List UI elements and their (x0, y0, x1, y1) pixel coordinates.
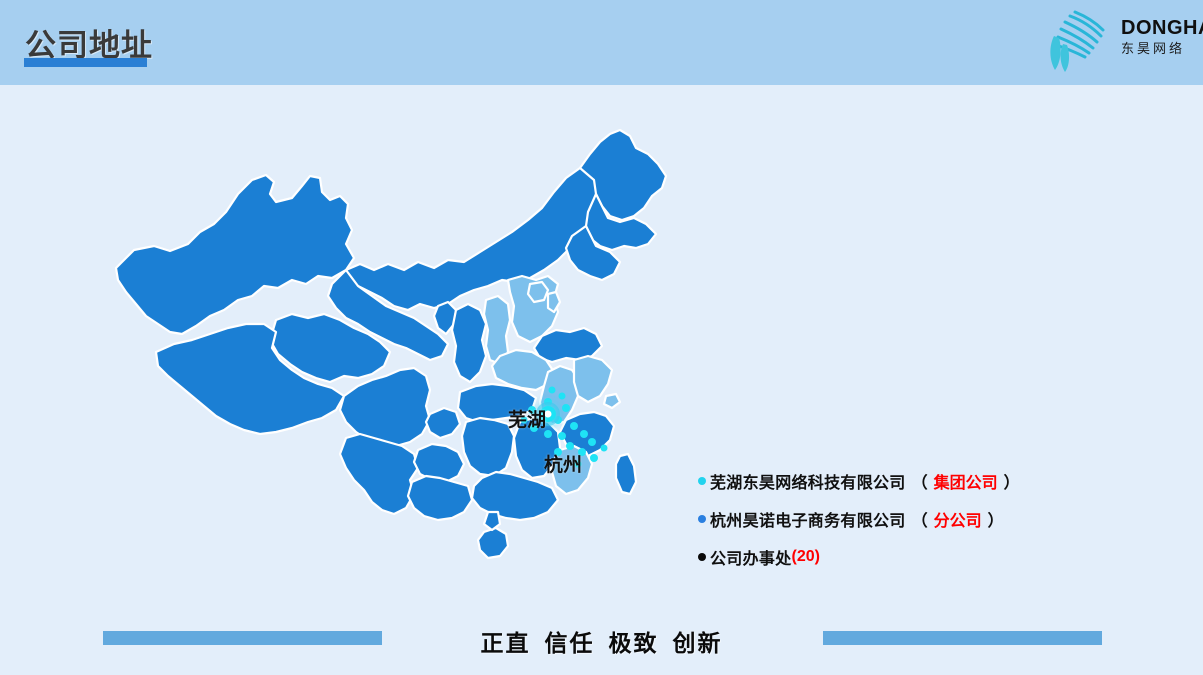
province-chongqing (426, 408, 460, 438)
province-hainan (478, 528, 508, 558)
legend-item-branch-company: 杭州昊诺电子商务有限公司 （分公司） (698, 500, 1098, 538)
footer-slogan: 正直信任极致创新 (0, 624, 1203, 658)
province-beijing (528, 282, 548, 302)
map-label-hangzhou: 杭州 (544, 450, 582, 477)
legend-bullet-blue-icon (698, 515, 706, 523)
legend-bullet-black-icon (698, 553, 706, 561)
slogan-word-4: 创新 (673, 630, 723, 656)
legend-paren-open-0: （ (912, 469, 928, 493)
province-taiwan (616, 454, 636, 494)
title-underline (24, 58, 147, 67)
province-xinjiang (116, 175, 354, 334)
wing-feather-icon (1045, 6, 1117, 74)
province-inner-mongolia (346, 160, 610, 310)
province-yunnan (340, 434, 418, 514)
slide: 公司地址 (0, 0, 1203, 675)
company-logo: DONGHAO 东昊网络 (1023, 4, 1193, 76)
legend-badge-branch-company: 分公司 (934, 507, 982, 531)
province-guangxi (408, 476, 472, 520)
legend-label-group-company: 芜湖东昊网络科技有限公司 (710, 469, 906, 493)
legend: 芜湖东昊网络科技有限公司 （集团公司） 杭州昊诺电子商务有限公司 （分公司） 公… (698, 462, 1098, 576)
slogan-word-3: 极致 (609, 630, 659, 656)
province-shaanxi (452, 304, 486, 382)
legend-label-offices: 公司办事处 (710, 545, 792, 569)
legend-item-offices: 公司办事处(20) (698, 538, 1098, 576)
legend-badge-offices-count: (20) (792, 548, 820, 566)
legend-item-group-company: 芜湖东昊网络科技有限公司 （集团公司） (698, 462, 1098, 500)
legend-bullet-cyan-icon (698, 477, 706, 485)
legend-paren-close-1: ） (988, 507, 1004, 531)
china-map-svg (96, 120, 696, 610)
logo-english-name: DONGHAO (1121, 18, 1203, 39)
slogan-word-1: 正直 (481, 630, 531, 656)
leizhou-peninsula (484, 512, 500, 530)
slogan-word-2: 信任 (545, 630, 595, 656)
logo-chinese-name: 东昊网络 (1121, 40, 1203, 58)
province-guangdong (472, 472, 558, 520)
logo-text: DONGHAO 东昊网络 (1121, 18, 1203, 58)
legend-paren-close-0: ） (1004, 469, 1020, 493)
header-band: 公司地址 (0, 0, 1203, 85)
province-hunan (462, 418, 514, 476)
province-shanghai (604, 394, 620, 408)
legend-badge-group-company: 集团公司 (934, 469, 998, 493)
legend-paren-open-1: （ (912, 507, 928, 531)
china-map: 芜湖 杭州 (96, 120, 696, 610)
province-guizhou (414, 444, 464, 482)
legend-label-branch-company: 杭州昊诺电子商务有限公司 (710, 507, 906, 531)
map-label-wuhu: 芜湖 (508, 405, 546, 432)
province-sichuan (340, 368, 430, 446)
